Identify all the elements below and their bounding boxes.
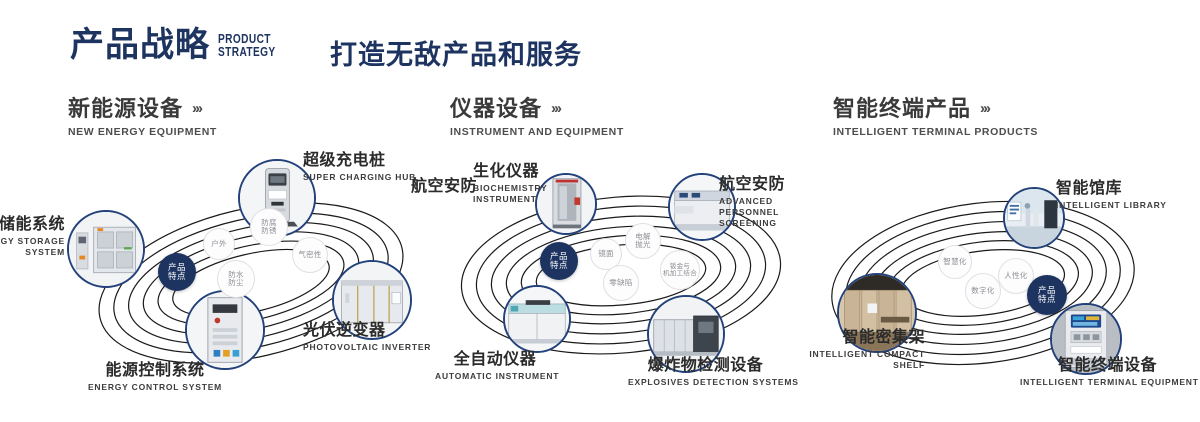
energy-control-system-image (187, 292, 263, 368)
feature-outdoor[interactable]: 户外 (203, 228, 235, 260)
node-energy-storage-system[interactable] (67, 210, 145, 288)
chevron-right-icon: ››› (192, 96, 201, 122)
feature-digital[interactable]: 数字化 (965, 273, 1001, 309)
label-cn: 储能系统 (0, 216, 65, 234)
label-en: SUPER CHARGING HUB (303, 172, 416, 183)
label-en: AUTOMATIC INSTRUMENT (435, 371, 555, 382)
label-cn: 航空安防 (719, 176, 819, 194)
section-title-en: INSTRUMENT AND EQUIPMENT (450, 126, 624, 138)
label-en: INTELLIGENT COMPACT SHELF (795, 349, 925, 371)
label-energy-control-system: 能源控制系统 ENERGY CONTROL SYSTEM (80, 362, 230, 393)
label-en: ENERGY STORAGE SYSTEM (0, 236, 65, 258)
label-explosives-detection: 爆炸物检测设备 EXPLOSIVES DETECTION SYSTEMS (628, 357, 783, 388)
label-cn: 能源控制系统 (80, 362, 230, 380)
label-en: BIOCHEMISTRY INSTRUMENT (473, 183, 555, 205)
feature-smart[interactable]: 智慧化 (938, 245, 972, 279)
feature-sheetmetal-machining[interactable]: 钣金与机加工结合 (660, 250, 700, 290)
chevron-right-icon: ››› (551, 96, 560, 122)
label-intelligent-library: 智能馆库 INTELLIGENT LIBRARY (1056, 180, 1167, 211)
label-cn: 智能终端设备 (1020, 357, 1195, 375)
label-cn: 超级充电桩 (303, 152, 416, 170)
feature-anticorrosion[interactable]: 防腐防锈 (250, 208, 288, 246)
product-strategy-infographic: 产品战略 PRODUCT STRATEGY 打造无敌产品和服务 新能源设备›››… (0, 0, 1200, 422)
feature-airtight[interactable]: 气密性 (292, 237, 328, 273)
label-cn: 爆炸物检测设备 (628, 357, 783, 375)
label-cn: 光伏逆变器 (303, 322, 431, 340)
feature-product-features-hub[interactable]: 产品特点 (1027, 275, 1067, 315)
label-en: INTELLIGENT TERMINAL EQUIPMENT (1020, 377, 1195, 388)
label-cn: 全自动仪器 (435, 351, 555, 369)
energy-storage-system-image (69, 212, 143, 286)
feature-electropolishing[interactable]: 电解抛光 (625, 223, 661, 259)
label-biochemistry-instrument: 生化仪器 BIOCHEMISTRY INSTRUMENT (473, 163, 555, 205)
label-intelligent-terminal-equipment: 智能终端设备 INTELLIGENT TERMINAL EQUIPMENT (1020, 357, 1195, 388)
feature-product-features-hub[interactable]: 产品特点 (540, 242, 578, 280)
page-subtitle: 打造无敌产品和服务 (330, 33, 582, 72)
label-super-charging-hub: 超级充电桩 SUPER CHARGING HUB (303, 152, 416, 183)
feature-zero-defect[interactable]: 零缺陷 (603, 265, 639, 301)
section-title-en: INTELLIGENT TERMINAL PRODUCTS (833, 126, 1038, 138)
section-header-instrument: 仪器设备››› INSTRUMENT AND EQUIPMENT (450, 96, 624, 138)
automatic-instrument-image (505, 287, 569, 351)
label-en: EXPLOSIVES DETECTION SYSTEMS (628, 377, 783, 388)
label-en: PHOTOVOLTAIC INVERTER (303, 342, 431, 353)
label-intelligent-compact-shelf: 智能密集架 INTELLIGENT COMPACT SHELF (795, 329, 925, 371)
label-advanced-screening: 航空安防 ADVANCED PERSONNEL SCREENING (719, 176, 819, 229)
label-en: ENERGY CONTROL SYSTEM (80, 382, 230, 393)
page-title: 产品战略 (70, 28, 210, 62)
section-header-intelligent-terminal: 智能终端产品››› INTELLIGENT TERMINAL PRODUCTS (833, 96, 1038, 138)
label-cn: 智能密集架 (795, 329, 925, 347)
label-cn: 智能馆库 (1056, 180, 1167, 198)
label-aviation-security-left: 航空安防 (411, 178, 477, 196)
feature-product-features-hub[interactable]: 产品特点 (158, 253, 196, 291)
label-en: ADVANCED PERSONNEL SCREENING (719, 196, 819, 229)
section-title-en: NEW ENERGY EQUIPMENT (68, 126, 217, 138)
label-en: INTELLIGENT LIBRARY (1056, 200, 1167, 211)
label-automatic-instrument: 全自动仪器 AUTOMATIC INSTRUMENT (435, 351, 555, 382)
node-automatic-instrument[interactable] (503, 285, 571, 353)
label-energy-storage-system: 储能系统 ENERGY STORAGE SYSTEM (0, 216, 65, 258)
page-title-english-line2: STRATEGY (218, 45, 276, 58)
page-title-english: PRODUCT STRATEGY (218, 32, 276, 58)
section-title-cn: 智能终端产品››› (833, 96, 1038, 122)
intelligent-library-image (1005, 189, 1063, 247)
feature-waterproof[interactable]: 防水防尘 (217, 260, 255, 298)
chevron-right-icon: ››› (980, 96, 989, 122)
section-title-cn: 新能源设备››› (68, 96, 217, 122)
section-title-cn: 仪器设备››› (450, 96, 624, 122)
section-header-new-energy: 新能源设备››› NEW ENERGY EQUIPMENT (68, 96, 217, 138)
label-photovoltaic-inverter: 光伏逆变器 PHOTOVOLTAIC INVERTER (303, 322, 431, 353)
node-energy-control-system[interactable] (185, 290, 265, 370)
label-cn: 航空安防 (411, 178, 477, 196)
label-cn: 生化仪器 (473, 163, 555, 181)
